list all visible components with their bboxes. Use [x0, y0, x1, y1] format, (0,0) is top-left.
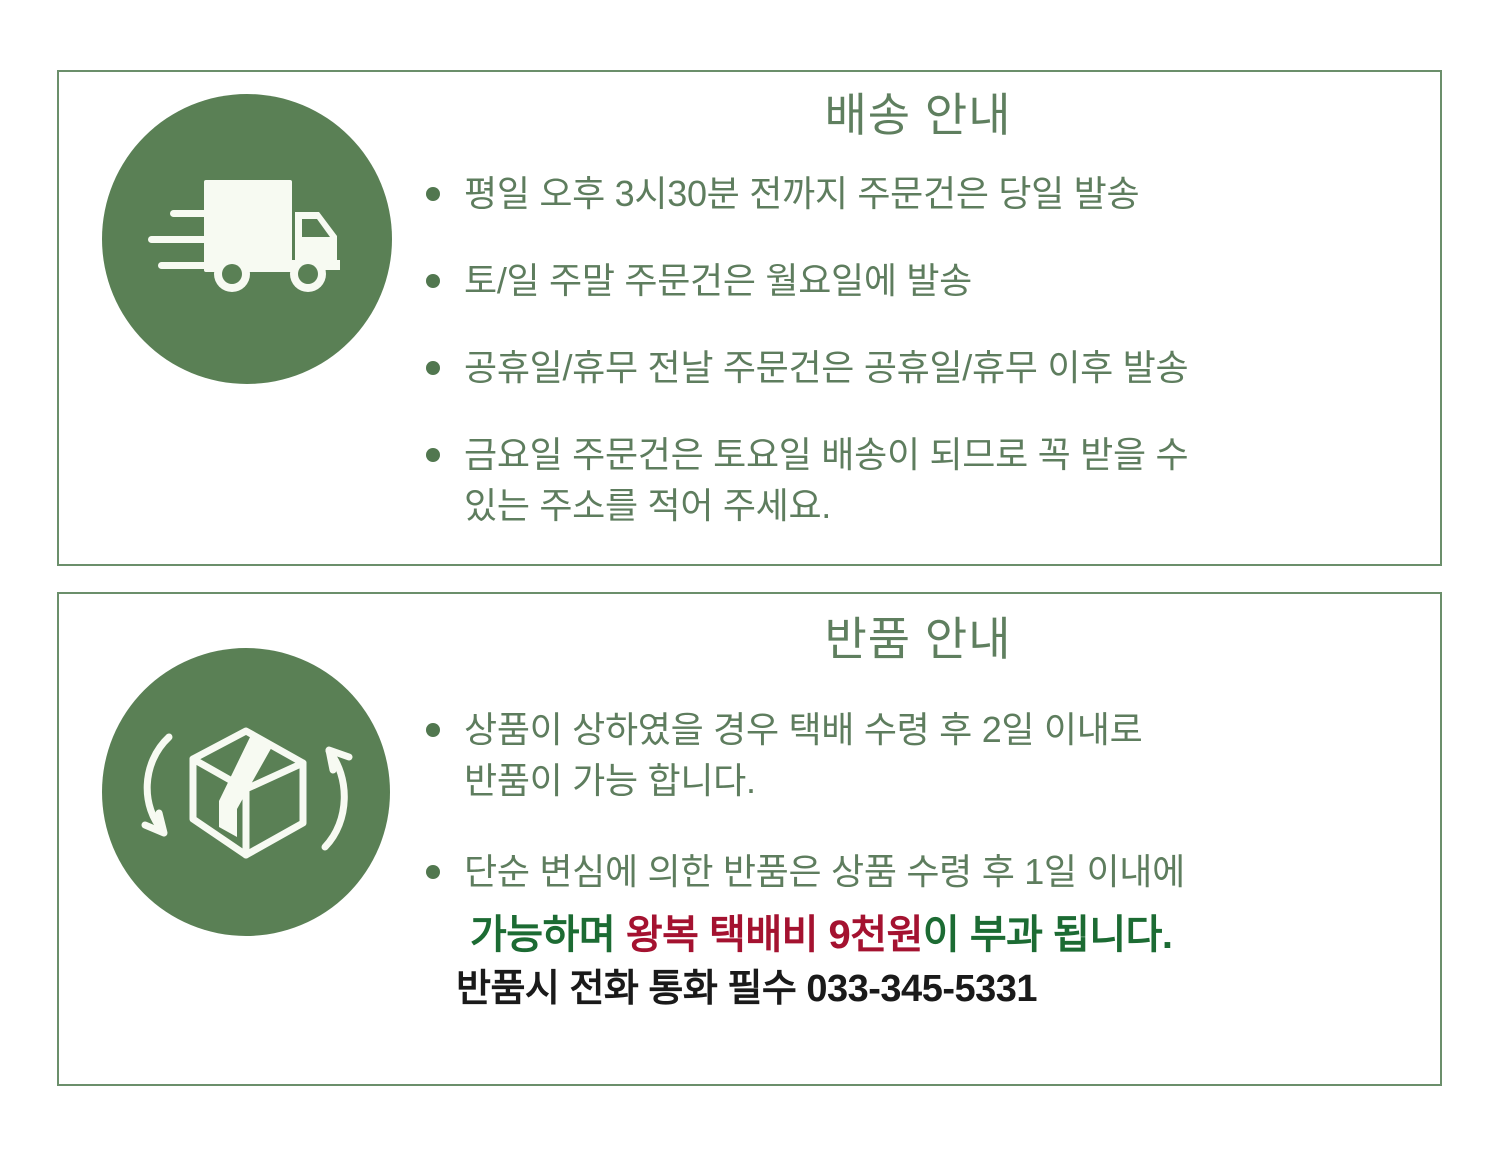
return-bullet-2-line-1: 단순 변심에 의한 반품은 상품 수령 후 1일 이내에	[464, 846, 1422, 897]
bullet-dot-icon	[426, 865, 440, 879]
shipping-bullet-3-line-1: 공휴일/휴무 전날 주문건은 공휴일/휴무 이후 발송	[464, 342, 1422, 393]
shipping-bullet-1: 평일 오후 3시30분 전까지 주문건은 당일 발송	[414, 168, 1422, 219]
shipping-panel-title: 배송 안내	[414, 72, 1422, 138]
shipping-bullet-3: 공휴일/휴무 전날 주문건은 공휴일/휴무 이후 발송	[414, 342, 1422, 393]
return-bullet-1: 상품이 상하였을 경우 택배 수령 후 2일 이내로 반품이 가능 합니다.	[414, 704, 1422, 806]
shipping-bullet-4-line-2: 있는 주소를 적어 주세요.	[464, 480, 1422, 531]
bullet-dot-icon	[426, 187, 440, 201]
return-bullet-list: 상품이 상하였을 경우 택배 수령 후 2일 이내로 반품이 가능 합니다. 단…	[414, 704, 1422, 1015]
shipping-bullet-1-line-1: 평일 오후 3시30분 전까지 주문건은 당일 발송	[464, 168, 1422, 219]
return-bullet-2: 단순 변심에 의한 반품은 상품 수령 후 1일 이내에 가능하며 왕복 택배비…	[414, 846, 1422, 1015]
return-content: 반품 안내 상품이 상하였을 경우 택배 수령 후 2일 이내로 반품이 가능 …	[414, 594, 1422, 1084]
bullet-dot-icon	[426, 361, 440, 375]
shipping-bullet-2: 토/일 주말 주문건은 월요일에 발송	[414, 255, 1422, 306]
return-fee-prefix: 가능하며	[470, 913, 626, 957]
return-fee-highlight: 왕복 택배비 9천원	[626, 913, 923, 957]
bullet-dot-icon	[426, 723, 440, 737]
return-bullet-1-line-1: 상품이 상하였을 경우 택배 수령 후 2일 이내로	[464, 704, 1422, 755]
bullet-dot-icon	[426, 448, 440, 462]
bullet-dot-icon	[426, 274, 440, 288]
return-phone-notice: 반품시 전화 통화 필수 033-345-5331	[456, 965, 1422, 1014]
return-panel-title: 반품 안내	[414, 594, 1422, 662]
shipping-bullet-list: 평일 오후 3시30분 전까지 주문건은 당일 발송 토/일 주말 주문건은 월…	[414, 168, 1422, 532]
shipping-bullet-4-line-1: 금요일 주문건은 토요일 배송이 되므로 꼭 받을 수	[464, 429, 1422, 480]
shipping-content: 배송 안내 평일 오후 3시30분 전까지 주문건은 당일 발송 토/일 주말 …	[414, 72, 1422, 564]
shipping-bullet-2-line-1: 토/일 주말 주문건은 월요일에 발송	[464, 255, 1422, 306]
shipping-info-panel: 배송 안내 평일 오후 3시30분 전까지 주문건은 당일 발송 토/일 주말 …	[57, 70, 1442, 566]
delivery-truck-icon	[102, 94, 392, 384]
return-info-panel: 반품 안내 상품이 상하였을 경우 택배 수령 후 2일 이내로 반품이 가능 …	[57, 592, 1442, 1086]
return-fee-suffix: 이 부과 됩니다.	[923, 913, 1173, 957]
return-package-icon	[102, 648, 390, 936]
return-fee-notice: 가능하며 왕복 택배비 9천원이 부과 됩니다.	[470, 909, 1422, 961]
shipping-bullet-4: 금요일 주문건은 토요일 배송이 되므로 꼭 받을 수 있는 주소를 적어 주세…	[414, 429, 1422, 531]
return-bullet-1-line-2: 반품이 가능 합니다.	[464, 755, 1422, 806]
info-graphic-page: 배송 안내 평일 오후 3시30분 전까지 주문건은 당일 발송 토/일 주말 …	[0, 0, 1500, 1167]
